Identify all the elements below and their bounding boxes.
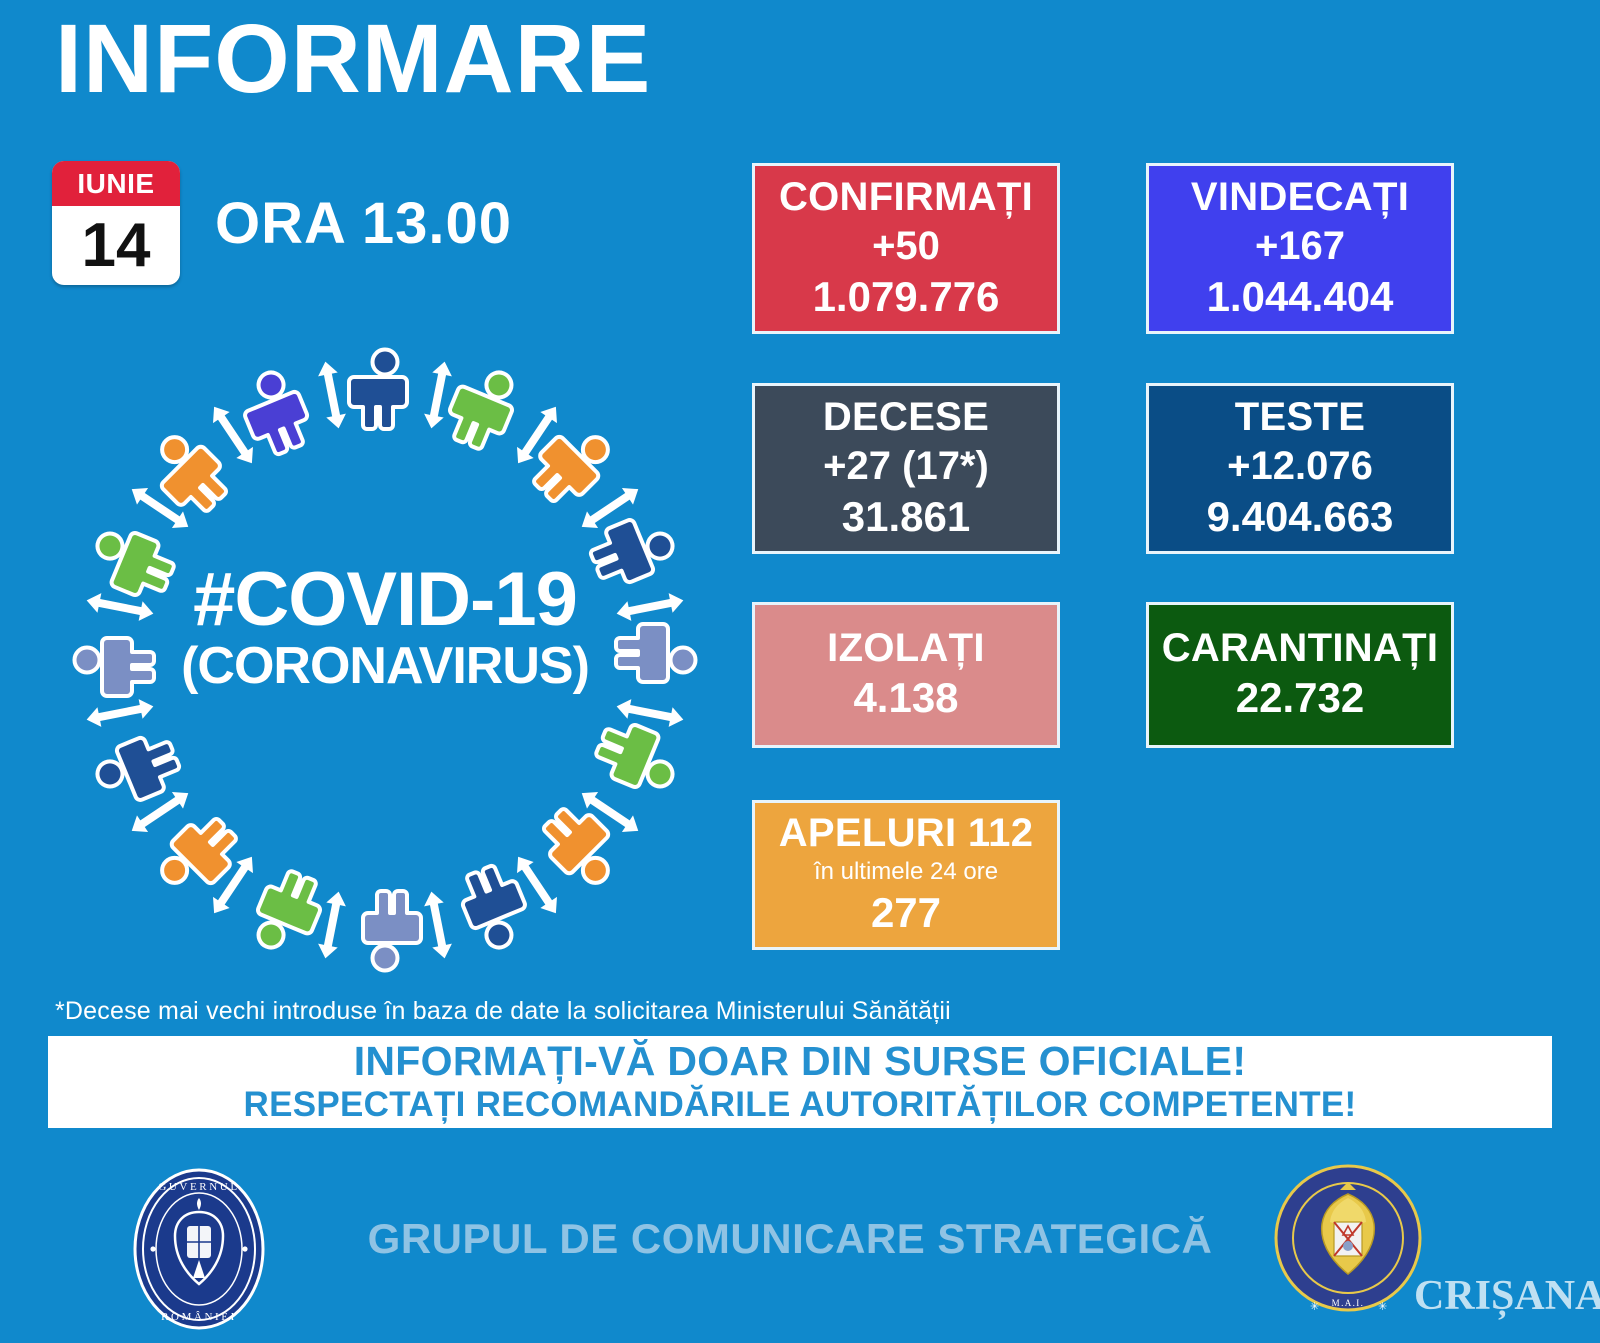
stat-delta: +27 (17*) <box>823 441 989 491</box>
stat-card-vindecati: VINDECAȚI +167 1.044.404 <box>1146 163 1454 334</box>
distancing-circle-svg <box>55 330 715 990</box>
stat-total: 1.079.776 <box>813 271 1000 324</box>
stat-label: CONFIRMAȚI <box>779 174 1033 221</box>
stat-label: APELURI 112 <box>779 810 1034 857</box>
stat-card-izolati: IZOLAȚI 4.138 <box>752 602 1060 748</box>
svg-text:ROMÂNIEI: ROMÂNIEI <box>161 1311 237 1323</box>
svg-text:✳: ✳ <box>1378 1301 1387 1313</box>
stat-card-carantinati: CARANTINAȚI 22.732 <box>1146 602 1454 748</box>
calendar-day: 14 <box>52 206 180 285</box>
footnote: *Decese mai vechi introduse în baza de d… <box>55 997 951 1026</box>
time-label: ORA 13.00 <box>215 190 512 257</box>
stat-total: 9.404.663 <box>1207 491 1394 544</box>
stat-label: VINDECAȚI <box>1191 174 1409 221</box>
stat-sublabel: în ultimele 24 ore <box>814 857 998 887</box>
stat-label: CARANTINAȚI <box>1162 625 1439 672</box>
guvernul-romaniei-seal-icon: GUVERNUL ROMÂNIEI <box>133 1168 265 1331</box>
advisory-line-1: INFORMAȚI-VĂ DOAR DIN SURSE OFICIALE! <box>354 1039 1247 1085</box>
stat-total: 31.861 <box>842 491 970 544</box>
stat-total: 277 <box>871 887 941 940</box>
stat-total: 1.044.404 <box>1207 271 1394 324</box>
calendar-icon: IUNIE 14 <box>52 161 180 285</box>
svg-text:M.A.I.: M.A.I. <box>1332 1298 1365 1308</box>
page-title: INFORMARE <box>55 8 651 110</box>
stat-label: TESTE <box>1235 394 1365 441</box>
watermark: CRIȘANA <box>1414 1272 1600 1320</box>
footer-organization: GRUPUL DE COMUNICARE STRATEGICĂ <box>340 1215 1240 1263</box>
stat-label: DECESE <box>823 394 989 441</box>
stat-card-decese: DECESE +27 (17*) 31.861 <box>752 383 1060 554</box>
stat-delta: +167 <box>1255 221 1345 271</box>
advisory-line-2: RESPECTAȚI RECOMANDĂRILE AUTORITĂȚILOR C… <box>244 1085 1357 1124</box>
svg-text:✳: ✳ <box>1310 1301 1319 1313</box>
stat-total: 4.138 <box>853 672 958 725</box>
advisory-banner: INFORMAȚI-VĂ DOAR DIN SURSE OFICIALE! RE… <box>48 1036 1552 1128</box>
stat-total: 22.732 <box>1236 672 1364 725</box>
calendar-month: IUNIE <box>52 161 180 206</box>
svg-text:GUVERNUL: GUVERNUL <box>158 1181 239 1193</box>
people-distancing-circle-icon: #COVID-19 (CORONAVIRUS) <box>55 330 715 990</box>
stat-card-teste: TESTE +12.076 9.404.663 <box>1146 383 1454 554</box>
stat-label: IZOLAȚI <box>827 625 985 672</box>
stat-delta: +12.076 <box>1227 441 1373 491</box>
stat-card-apeluri-112: APELURI 112 în ultimele 24 ore 277 <box>752 800 1060 950</box>
dsu-mai-seal-icon: M.A.I. ✳ ✳ <box>1274 1160 1422 1320</box>
infographic-canvas: INFORMARE IUNIE 14 ORA 13.00 <box>0 0 1600 1343</box>
stat-card-confirmati: CONFIRMAȚI +50 1.079.776 <box>752 163 1060 334</box>
stat-delta: +50 <box>872 221 940 271</box>
